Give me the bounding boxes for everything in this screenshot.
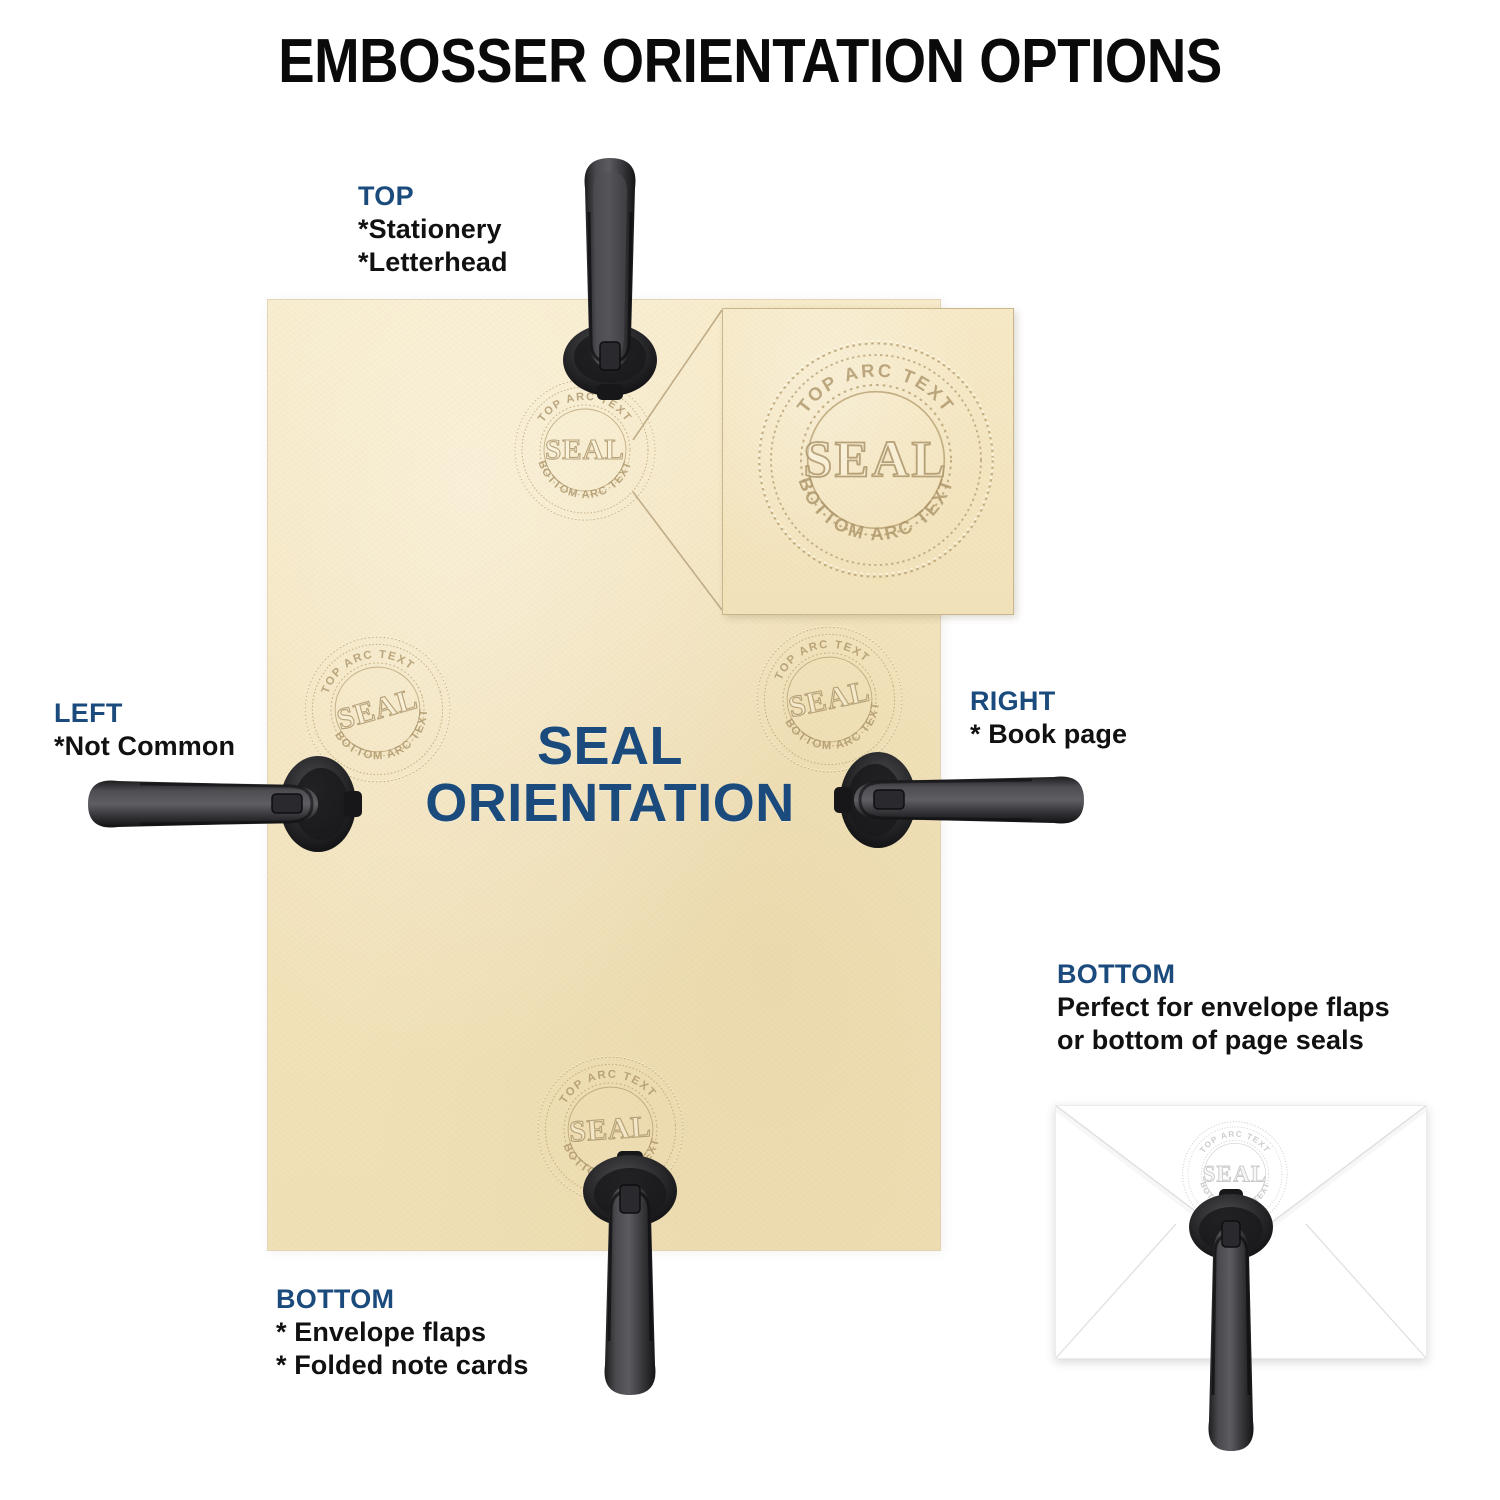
page-title: EMBOSSER ORIENTATION OPTIONS <box>90 26 1410 97</box>
label-left-heading: LEFT <box>54 697 235 730</box>
center-caption-line1: SEAL <box>330 718 890 775</box>
center-caption-line2: ORIENTATION <box>330 775 890 832</box>
embosser-tool-bottom <box>565 1145 695 1400</box>
embosser-tool-envelope <box>1177 1185 1287 1455</box>
embosser-tool-top <box>545 152 675 402</box>
label-top-line-1: *Letterhead <box>358 246 508 279</box>
seal-impression-magnified: TOP ARC TEXT BOTTOM ARC TEXT SEAL <box>751 335 1001 585</box>
seal-top-arc-text: TOP ARC TEXT <box>793 359 960 416</box>
label-left: LEFT *Not Common <box>54 697 235 763</box>
embosser-tool-left <box>82 748 367 860</box>
label-bottom-left-heading: BOTTOM <box>276 1283 528 1316</box>
label-bottom-right-line-1: or bottom of page seals <box>1057 1024 1390 1057</box>
label-bottom-left-line-1: * Folded note cards <box>276 1349 528 1382</box>
label-bottom-right-line-0: Perfect for envelope flaps <box>1057 991 1390 1024</box>
seal-bottom-arc-text: BOTTOM ARC TEXT <box>794 474 957 544</box>
embosser-tool-right <box>840 744 1090 856</box>
svg-text:TOP ARC TEXT: TOP ARC TEXT <box>793 359 960 416</box>
label-bottom-right: BOTTOM Perfect for envelope flaps or bot… <box>1057 958 1390 1058</box>
label-top-heading: TOP <box>358 180 508 213</box>
label-top: TOP *Stationery *Letterhead <box>358 180 508 280</box>
label-right-heading: RIGHT <box>970 685 1127 718</box>
label-right: RIGHT * Book page <box>970 685 1127 751</box>
seal-center-text: SEAL <box>804 432 949 489</box>
label-bottom-left-line-0: * Envelope flaps <box>276 1316 528 1349</box>
label-right-line-0: * Book page <box>970 718 1127 751</box>
infographic-canvas: EMBOSSER ORIENTATION OPTIONS TOP ARC TEX… <box>0 0 1500 1500</box>
center-caption: SEAL ORIENTATION <box>330 718 890 832</box>
magnified-seal-inset: TOP ARC TEXT BOTTOM ARC TEXT SEAL <box>722 308 1014 615</box>
label-bottom-right-heading: BOTTOM <box>1057 958 1390 991</box>
svg-text:BOTTOM ARC TEXT: BOTTOM ARC TEXT <box>794 474 957 544</box>
label-top-line-0: *Stationery <box>358 213 508 246</box>
label-left-line-0: *Not Common <box>54 730 235 763</box>
label-bottom-left: BOTTOM * Envelope flaps * Folded note ca… <box>276 1283 528 1383</box>
